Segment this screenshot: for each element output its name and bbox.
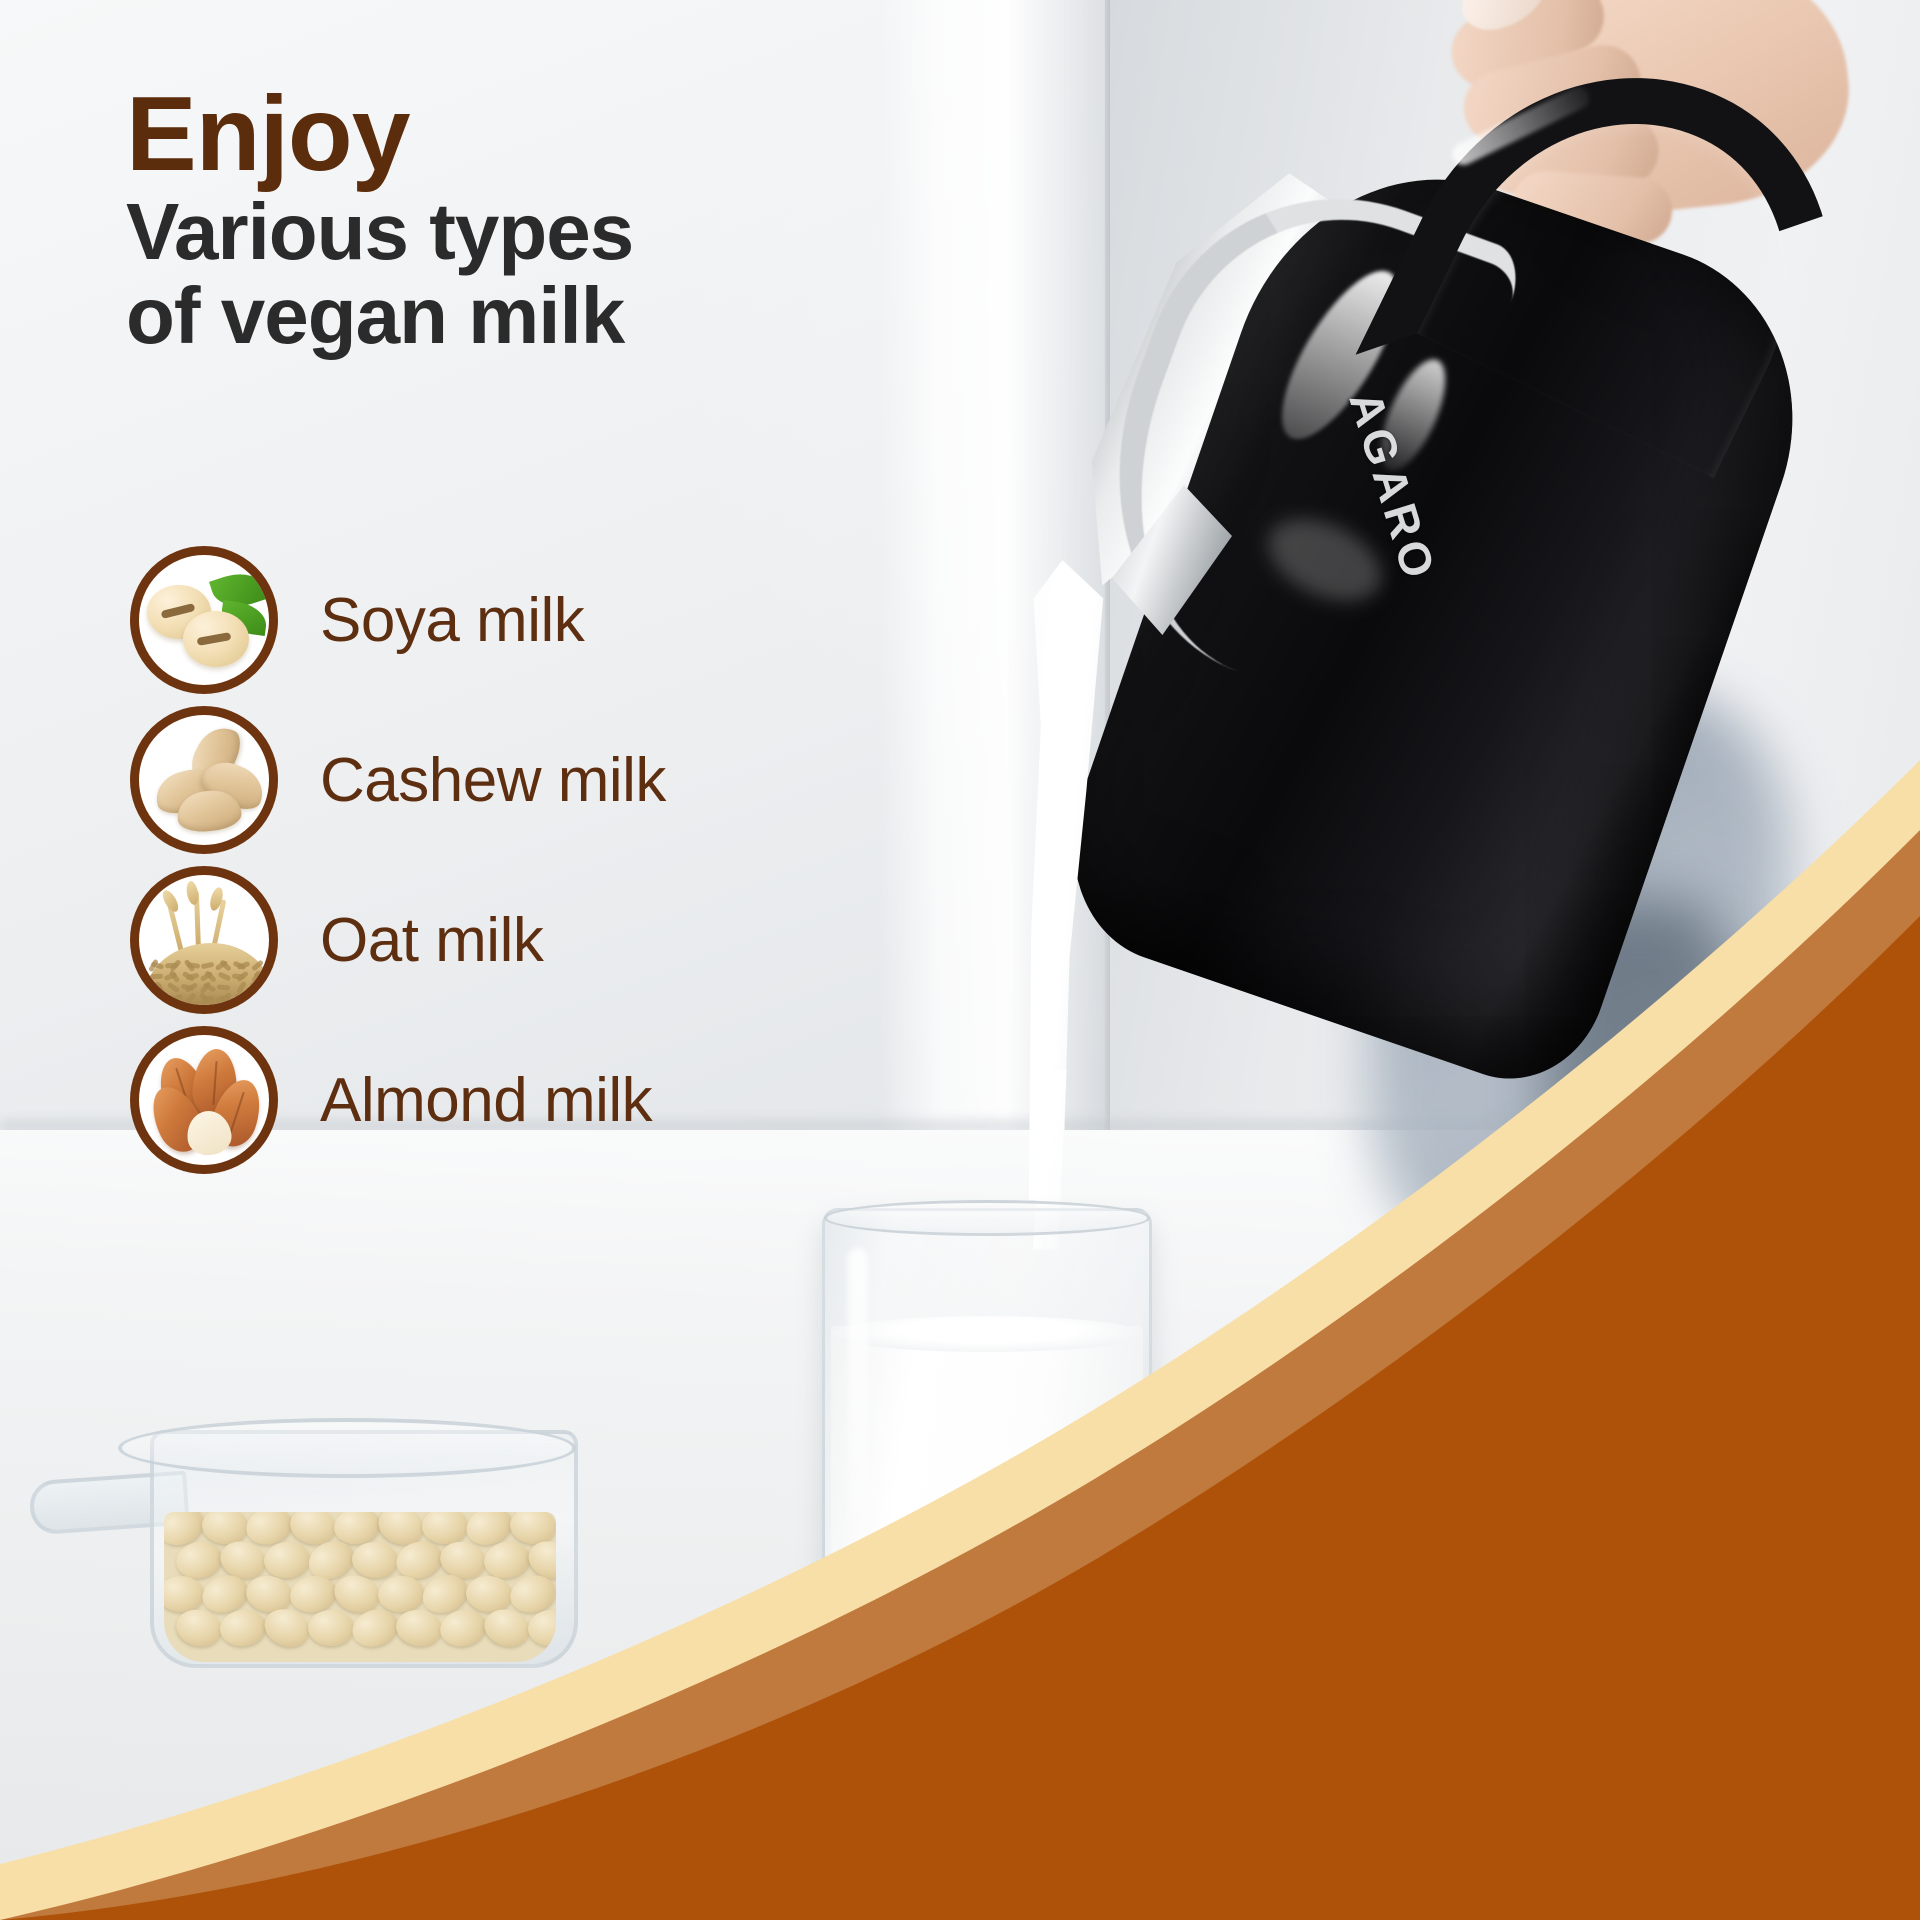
milk-fill [831,1326,1143,1626]
headline-secondary-line-2: of vegan milk [126,274,946,358]
feature-row-cashew: Cashew milk [130,700,930,860]
oat-grain [150,974,163,980]
feature-label-soya: Soya milk [320,585,584,656]
feature-row-almond: Almond milk [130,1020,930,1180]
feature-row-oat: Oat milk [130,860,930,1020]
bowl-rim [118,1418,576,1478]
milk-surface [831,1316,1143,1352]
oat-grains-icon [130,866,278,1014]
electric-kettle: AGARO [1090,55,1880,1115]
bowl-of-soybeans [130,1420,590,1680]
soybean [351,1540,399,1579]
lid-chrome-ring [1268,1266,1568,1376]
soybean [218,1607,268,1648]
glass-highlight [848,1248,868,1578]
oat-grain [253,985,266,990]
soybean [422,1512,469,1544]
headline-primary: Enjoy [126,84,946,186]
soybean [377,1574,425,1613]
soybean [465,1574,513,1613]
kettle-lid-on-counter [1212,1218,1682,1448]
almonds-icon [130,1026,278,1174]
lid-highlight [1402,1370,1512,1386]
headline-secondary-line-1: Various types [126,190,946,274]
cashew-nuts-icon [130,706,278,854]
soybean [481,1539,532,1582]
soybean [263,1540,311,1579]
product-marketing-banner: AGARO Enjoy [0,0,1920,1920]
glass-rim [824,1200,1150,1236]
headline-block: Enjoy Various types of vegan milk [126,84,946,358]
lid-knob [1581,1288,1675,1355]
vegan-milk-feature-list: Soya milk Cashew milk [130,540,930,1180]
soybeans-in-bowl [164,1512,556,1662]
soybean [164,1576,204,1613]
feature-row-soya: Soya milk [130,540,930,700]
feature-label-almond: Almond milk [320,1065,652,1136]
feature-label-oat: Oat milk [320,905,543,976]
soybeans-icon [130,546,278,694]
feature-label-cashew: Cashew milk [320,745,666,816]
glass-of-milk [822,1208,1152,1638]
soybean [527,1608,556,1647]
soybean [308,1610,355,1647]
